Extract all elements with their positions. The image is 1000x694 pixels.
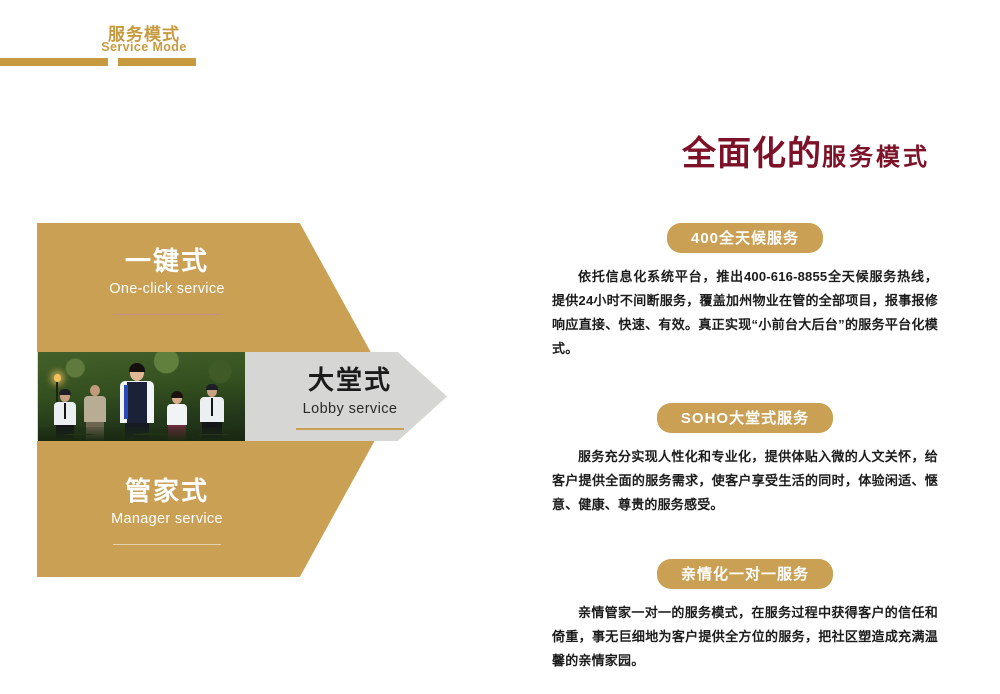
arrow-row-one-click-cn: 一键式 — [37, 245, 297, 278]
service-block-soho-body: 服务充分实现人性化和专业化，提供体贴入微的人文关怀，给客户提供全面的服务需求，使… — [552, 445, 938, 517]
photo-person-hair — [129, 363, 145, 372]
service-block-one-to-one: 亲情化一对一服务 亲情管家一对一的服务模式，在服务过程中获得客户的信任和倚重，事… — [552, 559, 938, 673]
service-block-soho: SOHO大堂式服务 服务充分实现人性化和专业化，提供体贴入微的人文关怀，给客户提… — [552, 403, 938, 517]
service-block-400: 400全天候服务 依托信息化系统平台，推出400-616-8855全天候服务热线… — [552, 223, 938, 361]
service-block-400-pill[interactable]: 400全天候服务 — [667, 223, 823, 253]
arrow-row-lobby-underline — [296, 428, 404, 430]
arrow-row-lobby-text[interactable]: 大堂式 Lobby service — [245, 360, 455, 430]
photo-person-tie — [64, 403, 66, 419]
photo-person-hair — [171, 391, 183, 398]
service-block-soho-pill[interactable]: SOHO大堂式服务 — [657, 403, 833, 433]
header-rule-right — [118, 58, 196, 66]
service-block-one-to-one-pill-wrap: 亲情化一对一服务 — [552, 559, 938, 589]
photo-person-tie — [211, 398, 213, 416]
service-block-400-body: 依托信息化系统平台，推出400-616-8855全天候服务热线，提供24小时不间… — [552, 265, 938, 361]
arrow-row-lobby-en: Lobby service — [245, 401, 455, 417]
photo-person-body — [167, 404, 187, 425]
photo-lamp-icon — [54, 374, 61, 382]
photo-person-sash — [124, 385, 128, 419]
header-title-en: Service Mode — [64, 40, 224, 54]
photo-person-cap — [206, 384, 218, 390]
photo-person-head — [90, 385, 100, 396]
service-block-one-to-one-pill[interactable]: 亲情化一对一服务 — [657, 559, 833, 589]
arrow-row-manager-underline — [113, 544, 221, 546]
photo-person-cap — [59, 389, 71, 395]
page-title-rest: 服务模式 — [822, 144, 930, 171]
page-title: 全面化的服务模式 — [552, 126, 938, 175]
photo-person-body — [84, 396, 106, 422]
content-column: 全面化的服务模式 400全天候服务 依托信息化系统平台，推出400-616-88… — [552, 126, 938, 673]
arrow-row-one-click-underline — [113, 314, 221, 316]
arrow-row-one-click[interactable]: 一键式 One-click service — [37, 245, 297, 315]
photo-foreground — [38, 427, 245, 441]
arrow-row-manager-cn: 管家式 — [37, 475, 297, 508]
header-rule-left — [0, 58, 108, 66]
photo-person-vest — [127, 382, 147, 423]
arrow-row-manager[interactable]: 管家式 Manager service — [37, 475, 297, 545]
page-title-strong: 全面化的 — [682, 135, 822, 173]
service-arrow-graphic: 一键式 One-click service — [37, 223, 447, 577]
arrow-row-lobby-cn: 大堂式 — [245, 360, 455, 397]
arrow-row-one-click-en: One-click service — [37, 281, 297, 297]
arrow-row-manager-en: Manager service — [37, 511, 297, 527]
service-block-400-pill-wrap: 400全天候服务 — [552, 223, 938, 253]
service-block-one-to-one-body: 亲情管家一对一的服务模式，在服务过程中获得客户的信任和倚重，事无巨细地为客户提供… — [552, 601, 938, 673]
service-block-soho-pill-wrap: SOHO大堂式服务 — [552, 403, 938, 433]
page-header: 服务模式 Service Mode — [0, 0, 1000, 72]
team-photo-image — [38, 352, 245, 441]
